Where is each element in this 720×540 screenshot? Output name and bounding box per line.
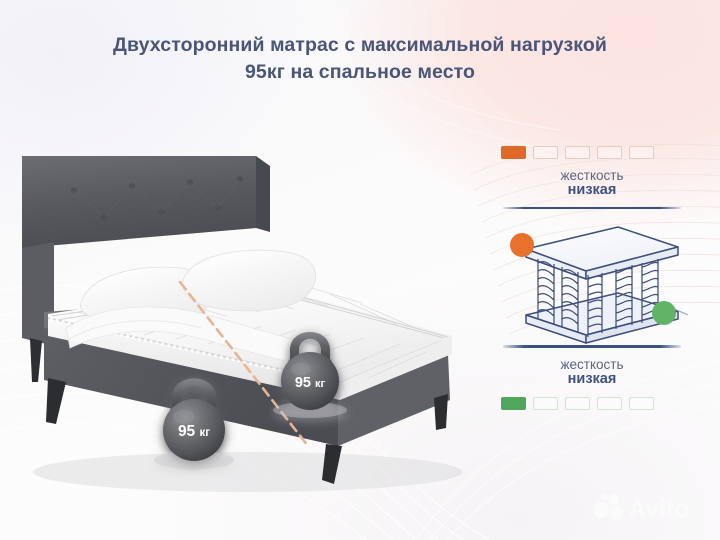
firmness-bottom-value: низкая [492, 372, 692, 387]
page-title: Двухсторонний матрас с максимальной нагр… [0, 32, 720, 86]
firmness-top-pip-3 [565, 146, 590, 159]
page-title-line-2: 95кг на спальное место [0, 59, 720, 86]
firmness-panel: жесткость низкая [492, 146, 692, 426]
firmness-top-scale [492, 146, 692, 159]
firmness-top-pip-5 [629, 146, 654, 159]
firmness-marker-top-dot [510, 233, 534, 257]
divider-top [503, 207, 681, 209]
mattress-cross-section-diagram [492, 215, 692, 345]
firmness-bottom-caption: жесткость низкая [492, 357, 692, 387]
product-photo: 95 кг 95 кг [8, 132, 478, 492]
firmness-marker-bottom-dot [652, 301, 676, 325]
firmness-top-label: жесткость [492, 168, 692, 183]
firmness-bottom-pip-3 [565, 397, 590, 410]
firmness-bottom-pip-5 [629, 397, 654, 410]
firmness-top-pip-1 [501, 146, 526, 159]
firmness-top-pip-2 [533, 146, 558, 159]
firmness-bottom-scale [492, 397, 692, 410]
kettlebell-back-weight: 95 кг [295, 375, 326, 391]
firmness-bottom-pip-2 [533, 397, 558, 410]
firmness-top-pip-4 [597, 146, 622, 159]
screenshot-canvas: Двухсторонний матрас с максимальной нагр… [0, 0, 720, 540]
divider-bottom [503, 345, 681, 347]
firmness-top-value: низкая [492, 183, 692, 198]
firmness-top-caption: жесткость низкая [492, 168, 692, 198]
page-title-line-1: Двухсторонний матрас с максимальной нагр… [113, 34, 607, 56]
firmness-bottom-label: жесткость [492, 357, 692, 372]
firmness-bottom-pip-1 [501, 397, 526, 410]
avito-watermark: Avito [592, 490, 704, 524]
bed-illustration: 95 кг 95 кг [8, 132, 478, 492]
firmness-bottom-pip-4 [597, 397, 622, 410]
avito-logo-icon [593, 494, 624, 520]
avito-logo-text: Avito [628, 495, 690, 523]
